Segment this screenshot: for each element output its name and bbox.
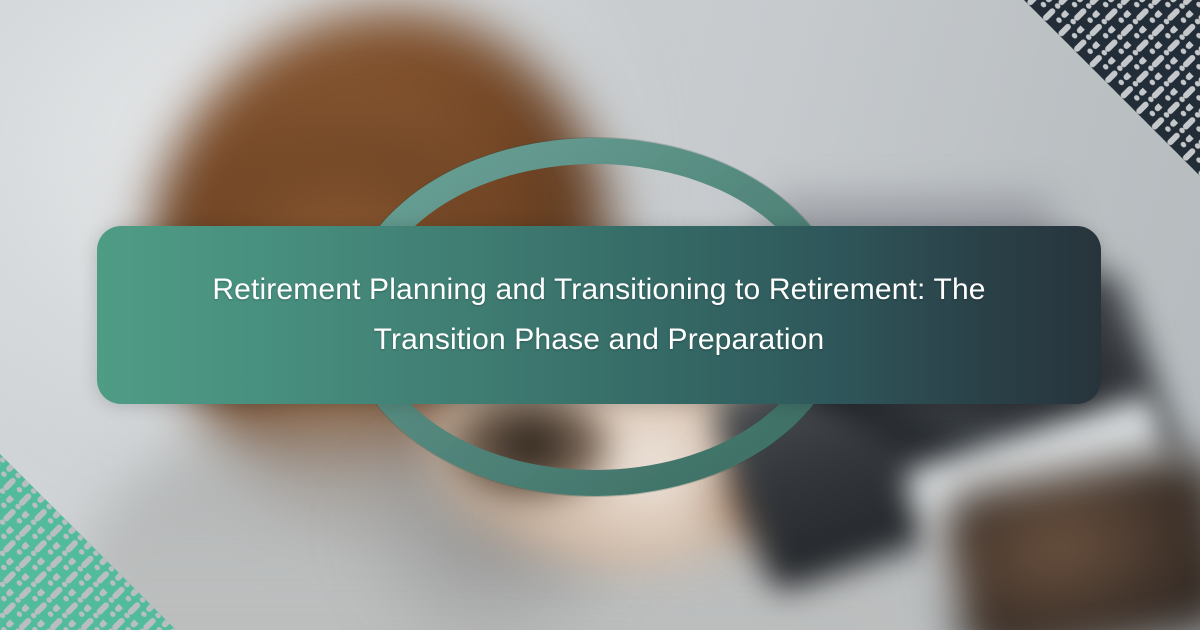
social-card-canvas: Retirement Planning and Transitioning to… [0,0,1200,630]
headline-card: Retirement Planning and Transitioning to… [97,226,1101,404]
page-title: Retirement Planning and Transitioning to… [157,265,1041,366]
